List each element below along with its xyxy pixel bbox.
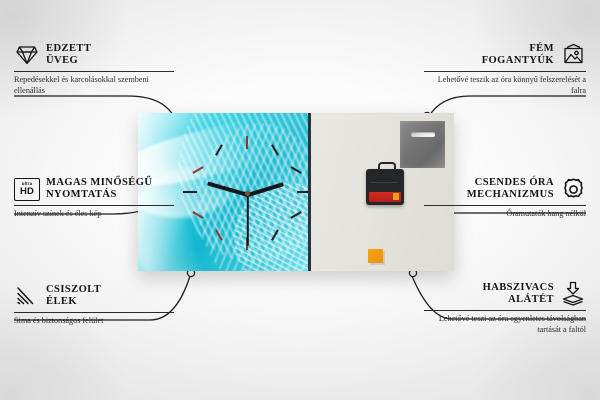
hour-marker-5 bbox=[271, 229, 279, 240]
foam-spacer-pad bbox=[368, 249, 383, 263]
diamond-icon bbox=[14, 42, 40, 68]
feature-description: Sima és biztonságos felület bbox=[14, 316, 174, 327]
feature-header: FÉM FOGANTYÚK bbox=[424, 42, 586, 68]
feature-divider bbox=[424, 71, 586, 72]
feature-title: EDZETT ÜVEG bbox=[46, 43, 91, 68]
hour-marker-10 bbox=[192, 166, 203, 174]
battery-compartment bbox=[369, 192, 401, 202]
feature-silent-mechanism: CSENDES ÓRA MECHANIZMUS Óramutatók hang … bbox=[424, 176, 586, 220]
hanging-frame-icon bbox=[560, 42, 586, 68]
foam-pad-icon bbox=[560, 281, 586, 307]
hanger-slot bbox=[411, 132, 435, 137]
feature-divider bbox=[14, 312, 174, 313]
hour-marker-3 bbox=[297, 191, 311, 193]
hour-marker-12 bbox=[246, 136, 248, 149]
feature-description: Repedésekkel és karcolásokkal szembeni e… bbox=[14, 75, 174, 96]
feature-metal-handles: FÉM FOGANTYÚK Lehetővé teszik az óra kön… bbox=[424, 42, 586, 96]
infographic-stage: EDZETT ÜVEG Repedésekkel és karcolásokka… bbox=[0, 0, 600, 400]
feature-description: Lehetővé teszi az óra egyenletes távolsá… bbox=[424, 314, 586, 335]
hour-marker-8 bbox=[192, 211, 203, 219]
battery-terminal bbox=[393, 193, 399, 200]
mechanism-hanging-tab bbox=[378, 162, 396, 173]
feature-divider bbox=[14, 71, 174, 72]
feature-header: ultra HD MAGAS MINŐSÉGŰ NYOMTATÁS bbox=[14, 176, 174, 202]
feature-polished-edges: CSISZOLT ÉLEK Sima és biztonságos felüle… bbox=[14, 283, 174, 327]
minute-hand bbox=[207, 182, 248, 197]
second-hand bbox=[247, 195, 249, 246]
feature-title: CSISZOLT ÉLEK bbox=[46, 284, 101, 309]
feature-title: HABSZIVACS ALÁTÉT bbox=[483, 282, 554, 307]
hour-marker-2 bbox=[290, 166, 301, 174]
hd-badge: ultra HD bbox=[14, 178, 40, 201]
hour-marker-1 bbox=[271, 144, 279, 155]
feature-header: EDZETT ÜVEG bbox=[14, 42, 174, 68]
feature-divider bbox=[424, 310, 586, 311]
hour-marker-4 bbox=[290, 211, 301, 219]
metal-hanger-plate bbox=[400, 121, 445, 168]
hd-badge-hd-label: HD bbox=[20, 187, 34, 197]
feature-description: Lehetővé teszik az óra könnyű felszerelé… bbox=[424, 75, 586, 96]
feature-divider bbox=[424, 205, 586, 206]
feature-high-quality-print: ultra HD MAGAS MINŐSÉGŰ NYOMTATÁS Intenz… bbox=[14, 176, 174, 220]
hour-marker-7 bbox=[215, 229, 223, 240]
clock-mechanism bbox=[366, 169, 404, 205]
hour-marker-11 bbox=[215, 144, 223, 155]
feature-description: Intenzív színek és éles kép bbox=[14, 209, 174, 220]
feature-header: CSISZOLT ÉLEK bbox=[14, 283, 174, 309]
polished-edge-icon bbox=[14, 283, 40, 309]
feature-title: FÉM FOGANTYÚK bbox=[482, 43, 554, 68]
feature-description: Óramutatók hang nélkül bbox=[424, 209, 586, 220]
feature-foam-pad: HABSZIVACS ALÁTÉT Lehetővé teszi az óra … bbox=[424, 281, 586, 335]
clock-center-hub bbox=[245, 191, 250, 196]
feature-title: CSENDES ÓRA MECHANIZMUS bbox=[467, 177, 554, 202]
mechanism-seam bbox=[370, 182, 398, 183]
feature-divider bbox=[14, 205, 174, 206]
feature-title: MAGAS MINŐSÉGŰ NYOMTATÁS bbox=[46, 177, 152, 202]
ultra-hd-icon: ultra HD bbox=[14, 176, 40, 202]
hour-marker-9 bbox=[183, 191, 197, 193]
feature-header: CSENDES ÓRA MECHANIZMUS bbox=[424, 176, 586, 202]
hour-hand bbox=[247, 182, 284, 197]
feature-header: HABSZIVACS ALÁTÉT bbox=[424, 281, 586, 307]
gear-icon bbox=[560, 176, 586, 202]
product-image bbox=[138, 113, 454, 271]
feature-tempered-glass: EDZETT ÜVEG Repedésekkel és karcolásokka… bbox=[14, 42, 174, 96]
